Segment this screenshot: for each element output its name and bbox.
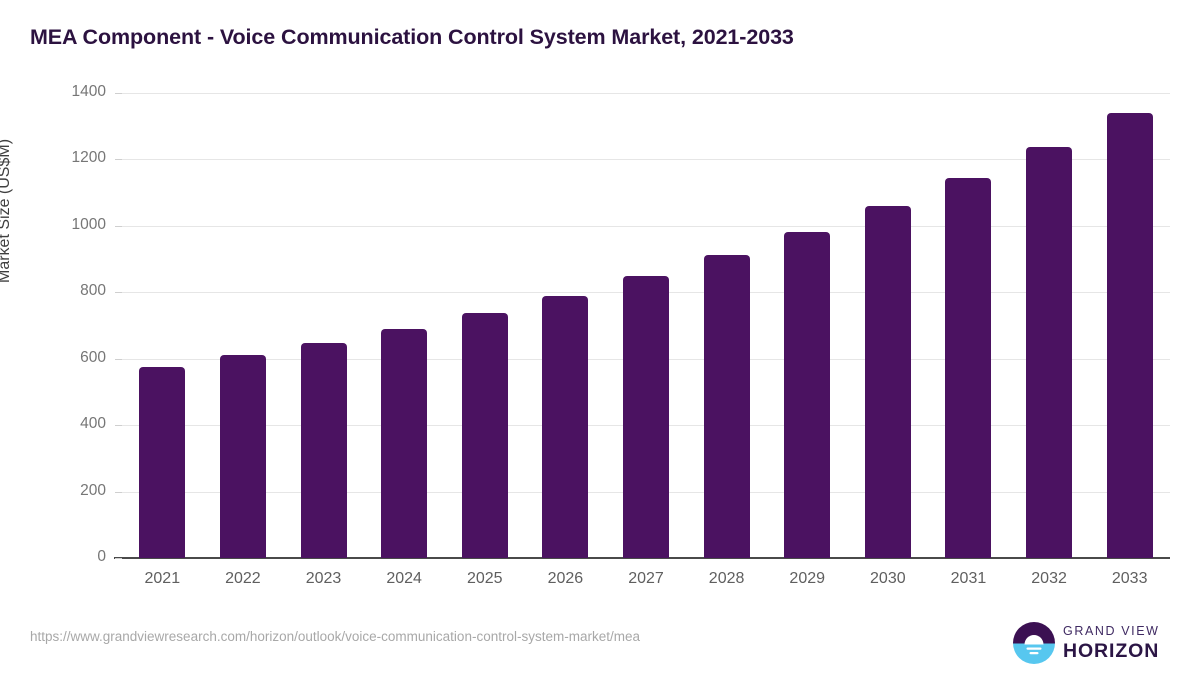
bar-2023[interactable] [301,343,347,558]
bar-2031[interactable] [945,178,991,558]
x-axis-tick-label: 2027 [606,570,687,588]
bar-2030[interactable] [865,206,911,558]
y-tick-mark [115,492,122,493]
y-axis-tick-label: 0 [0,548,106,566]
y-axis-tick-label: 800 [0,282,106,300]
bar-2028[interactable] [704,255,750,558]
source-url[interactable]: https://www.grandviewresearch.com/horizo… [30,629,640,644]
y-axis-tick-label: 400 [0,415,106,433]
y-tick-mark [115,425,122,426]
y-axis-tick-label: 1000 [0,216,106,234]
x-axis-tick-label: 2025 [444,570,525,588]
bar-2025[interactable] [462,313,508,558]
gridline [122,226,1170,227]
bar-2032[interactable] [1026,147,1072,558]
y-tick-mark [115,159,122,160]
y-tick-mark [115,292,122,293]
logo-line-2: HORIZON [1063,640,1160,662]
x-axis-tick-label: 2026 [525,570,606,588]
plot-area [122,93,1170,558]
y-axis-tick-label: 200 [0,482,106,500]
brand-logo: GRAND VIEW HORIZON [1013,620,1173,666]
x-axis-tick-label: 2029 [767,570,848,588]
y-axis-tick-label: 1400 [0,83,106,101]
y-tick-mark [115,226,122,227]
gridline [122,93,1170,94]
bar-2021[interactable] [139,367,185,558]
x-axis-tick-label: 2028 [686,570,767,588]
x-axis-tick-label: 2021 [122,570,203,588]
bar-2029[interactable] [784,232,830,558]
logo-wordmark: GRAND VIEW HORIZON [1063,623,1160,662]
y-tick-mark [115,558,122,559]
x-axis-tick-label: 2023 [283,570,364,588]
x-axis-tick-label: 2031 [928,570,1009,588]
y-tick-mark [115,359,122,360]
y-axis-tick-label: 1200 [0,149,106,167]
gridline [122,159,1170,160]
x-axis-tick-label: 2024 [364,570,445,588]
horizon-sunrise-icon [1013,622,1055,664]
logo-line-1: GRAND VIEW [1063,623,1160,640]
x-axis-tick-label: 2022 [203,570,284,588]
chart-card: MEA Component - Voice Communication Cont… [0,0,1200,675]
bar-2022[interactable] [220,355,266,558]
y-tick-mark [115,93,122,94]
bar-2027[interactable] [623,276,669,558]
bar-2024[interactable] [381,329,427,558]
y-axis-tick-label: 600 [0,349,106,367]
x-axis-tick-label: 2033 [1089,570,1170,588]
chart-canvas: Market Size (US$M) 020040060080010001200… [0,0,1200,675]
bar-2033[interactable] [1107,113,1153,558]
x-axis-tick-label: 2032 [1009,570,1090,588]
x-axis-tick-label: 2030 [848,570,929,588]
bar-2026[interactable] [542,296,588,558]
